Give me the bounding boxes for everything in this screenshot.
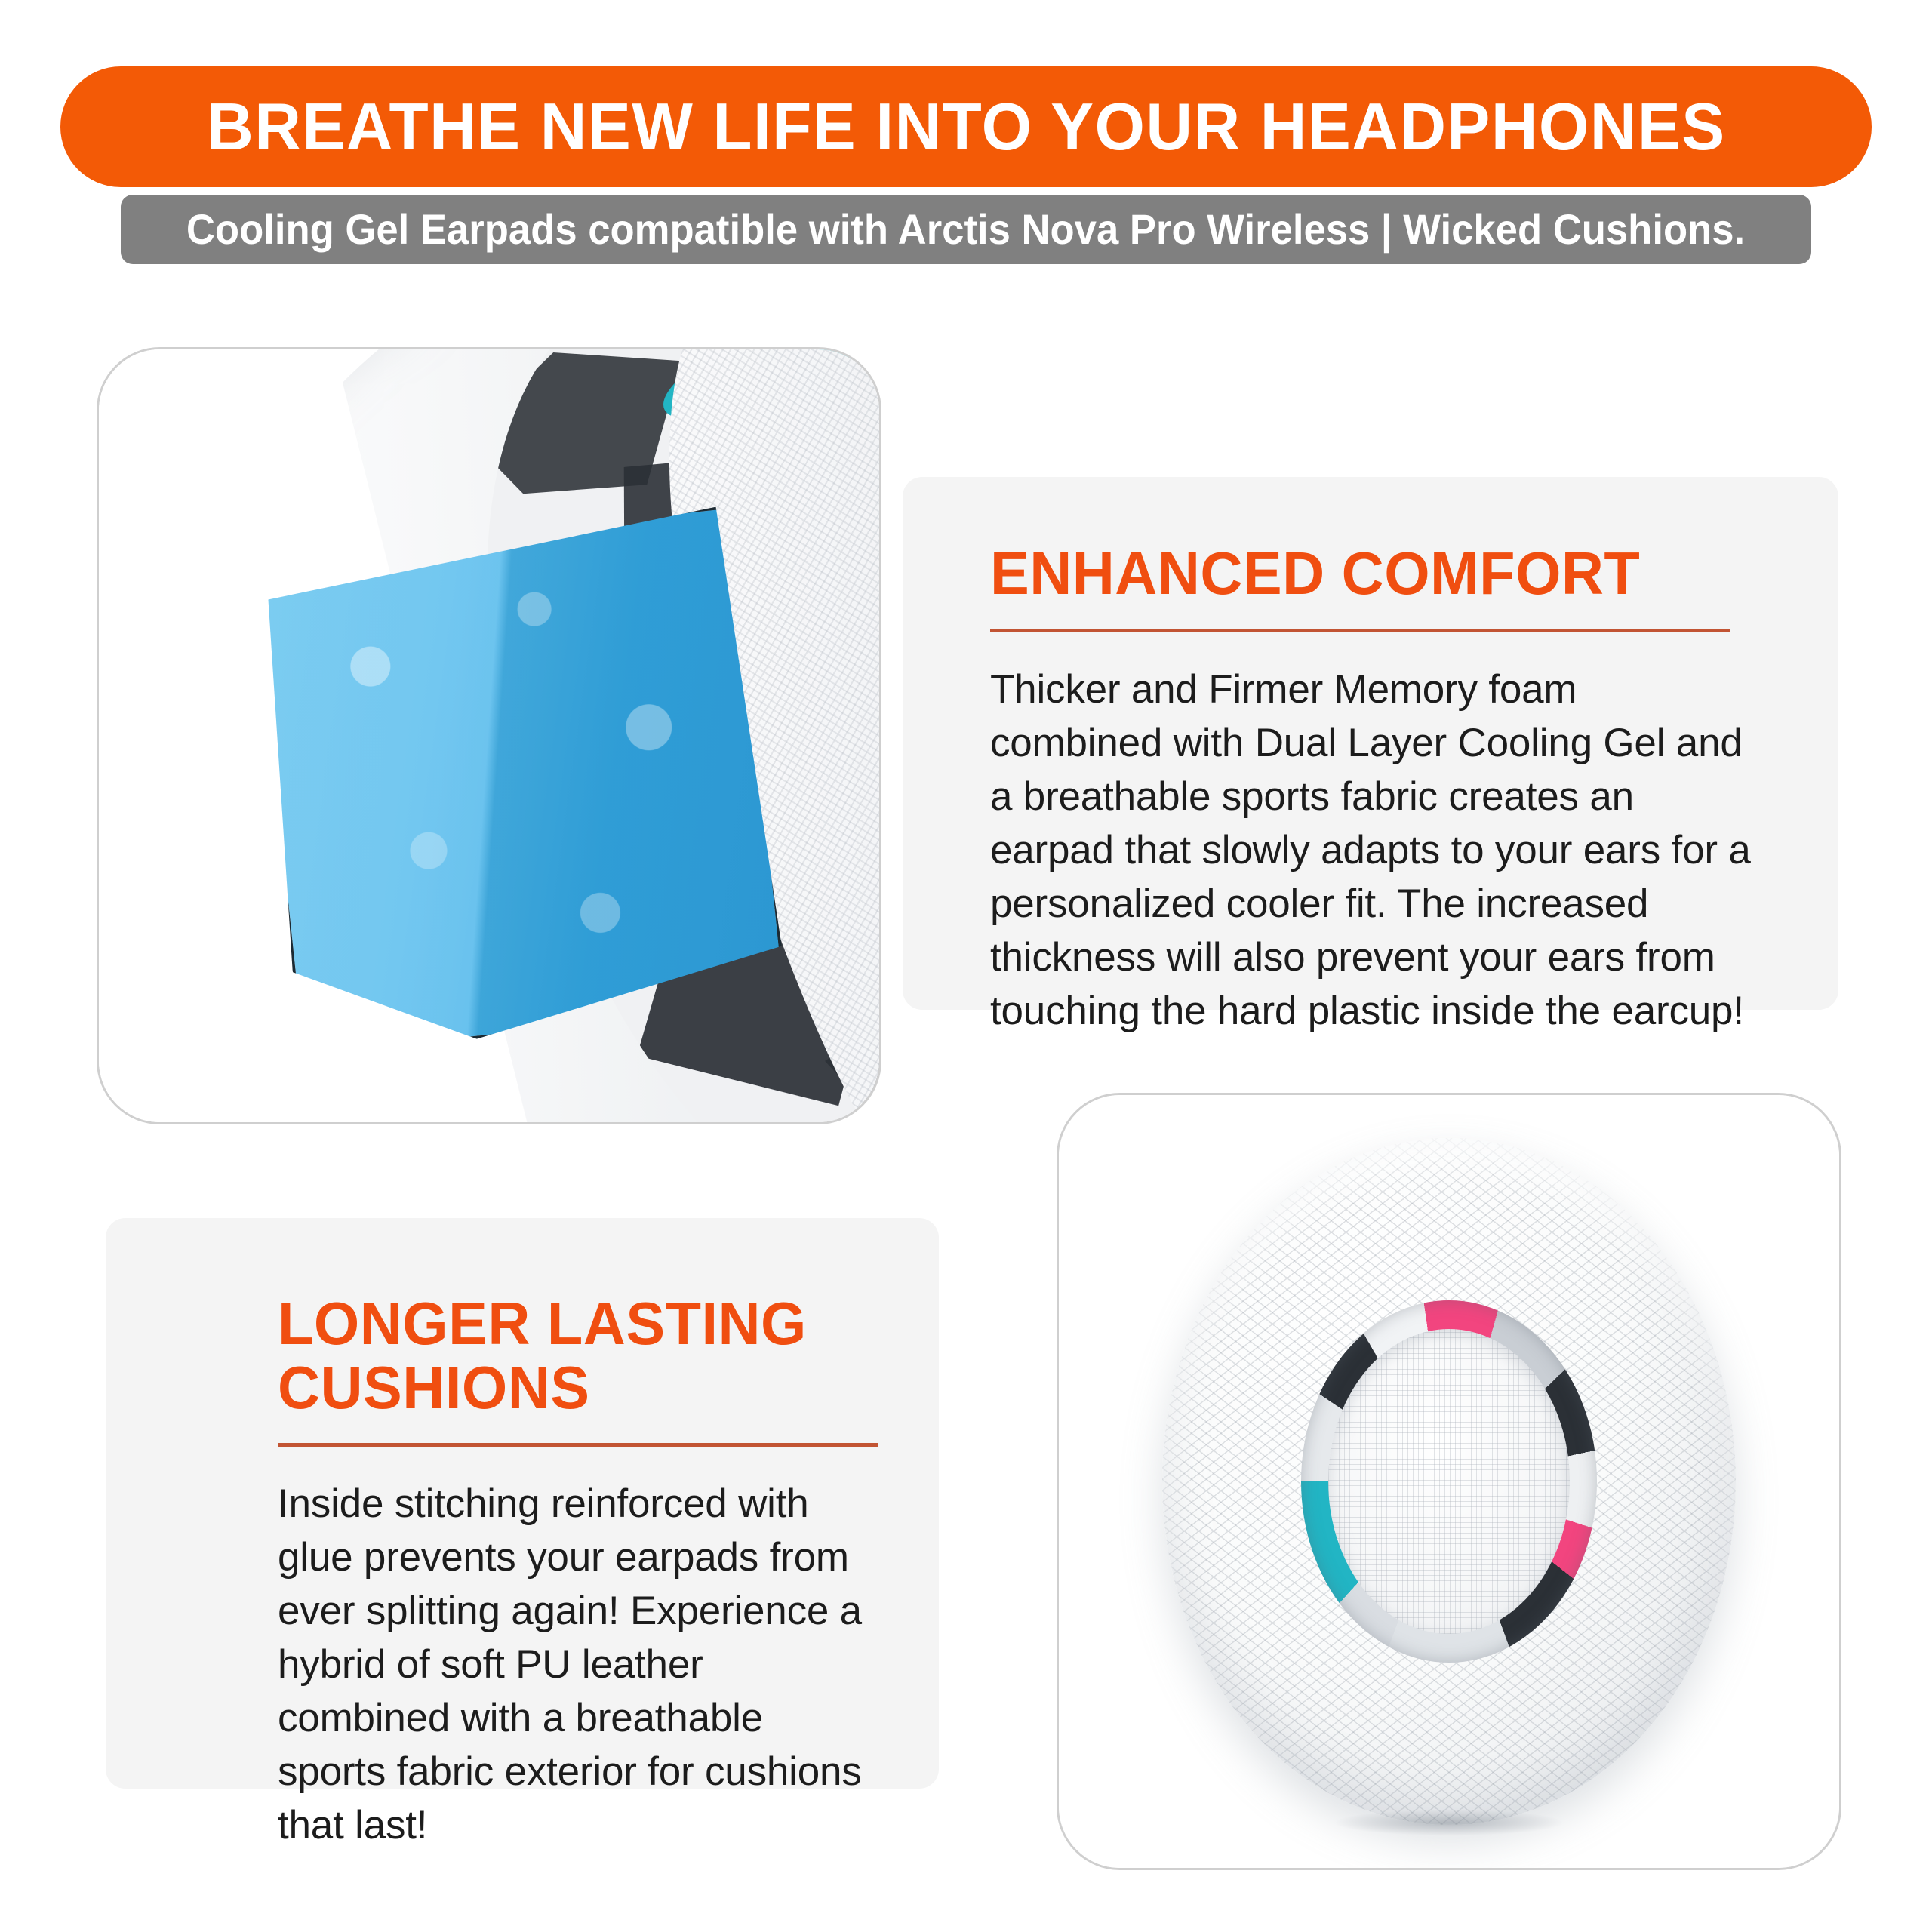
subtitle-banner: Cooling Gel Earpads compatible with Arct… (121, 195, 1811, 264)
feature-panel-longer-lasting-cushions: LONGER LASTING CUSHIONS Inside stitching… (106, 1218, 939, 1789)
feature-heading-enhanced-comfort: ENHANCED COMFORT (990, 542, 1743, 606)
earpad-mesh-body (1162, 1138, 1736, 1825)
headline-banner: BREATHE NEW LIFE INTO YOUR HEADPHONES (60, 66, 1872, 187)
feature-heading-longer-lasting-cushions: LONGER LASTING CUSHIONS (278, 1292, 860, 1420)
feature-body-enhanced-comfort: Thicker and Firmer Memory foam combined … (990, 663, 1752, 1038)
feature-body-longer-lasting-cushions: Inside stitching reinforced with glue pr… (278, 1477, 881, 1852)
earpad-photo (1059, 1095, 1839, 1868)
gel-layer-photo (99, 349, 879, 1122)
feature-panel-enhanced-comfort: ENHANCED COMFORT Thicker and Firmer Memo… (903, 477, 1838, 1010)
subtitle-text: Cooling Gel Earpads compatible with Arct… (186, 208, 1745, 251)
heading-divider-rule (990, 629, 1730, 632)
earpad-inner-mesh-window (1328, 1329, 1570, 1634)
gel-layer-photo-card (97, 347, 881, 1124)
earpad-drop-shadow (1336, 1810, 1562, 1835)
headline-text: BREATHE NEW LIFE INTO YOUR HEADPHONES (207, 94, 1726, 160)
heading-divider-rule (278, 1443, 878, 1447)
earpad-photo-card (1057, 1093, 1841, 1870)
